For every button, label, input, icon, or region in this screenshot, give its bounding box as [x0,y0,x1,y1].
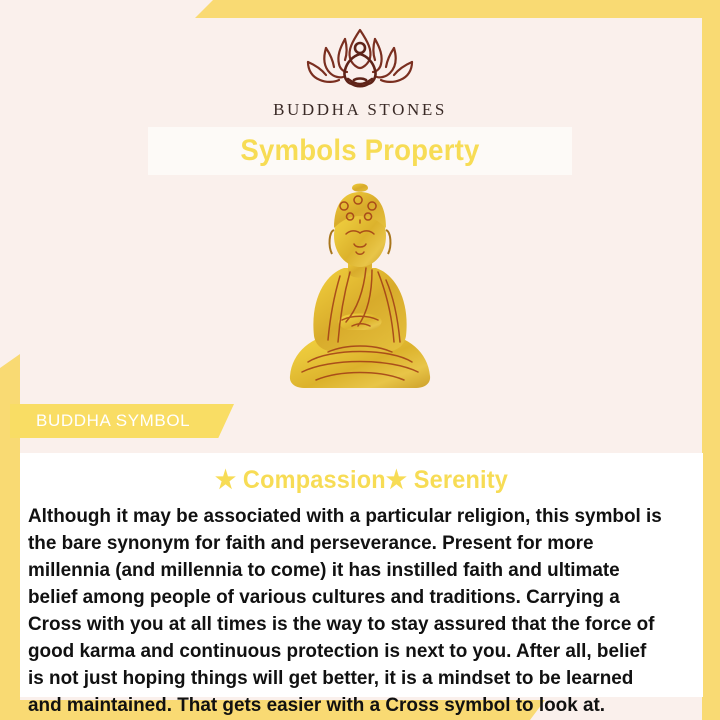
page-title: Symbols Property [240,134,479,168]
buddha-statue-icon [268,176,452,404]
content-paragraph: Although it may be associated with a par… [28,503,665,719]
buddha-symbol-tag-label: BUDDHA SYMBOL [36,411,190,431]
buddha-statue-image [268,176,452,404]
buddha-symbol-tag: BUDDHA SYMBOL [10,404,234,438]
content-panel: ★ Compassion★ Serenity Although it may b… [20,453,703,697]
top-yellow-band [195,0,720,18]
lotus-meditation-icon [290,24,430,96]
title-banner: Symbols Property [148,127,572,175]
poster-root: BUDDHA STONES Symbols Property [0,0,720,720]
brand-logo: BUDDHA STONES [0,24,720,120]
content-subheading: ★ Compassion★ Serenity [40,465,682,495]
brand-name: BUDDHA STONES [0,100,720,120]
